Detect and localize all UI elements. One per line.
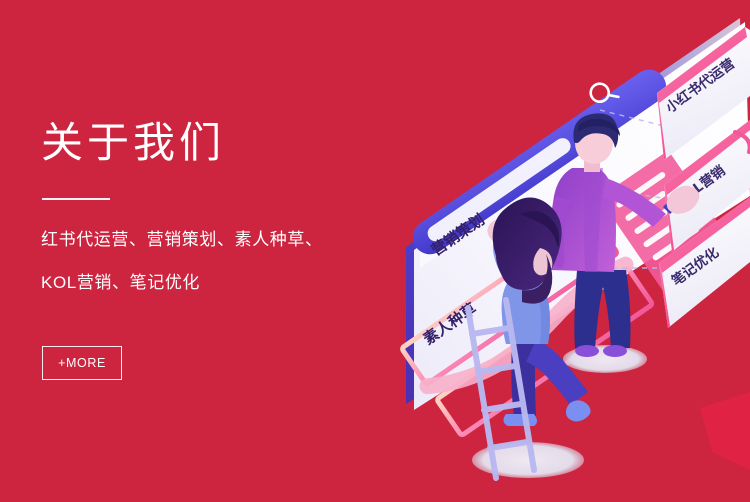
about-us-hero-banner: 营销策划 素人种草 小红书代运营 [0, 0, 750, 502]
hero-text-panel: 关于我们 红书代运营、营销策划、素人种草、 KOL营销、笔记优化 +MORE [0, 0, 400, 502]
description-line-1: 红书代运营、营销策划、素人种草、 [41, 225, 323, 250]
page-title: 关于我们 [41, 122, 225, 164]
description-line-2: KOL营销、笔记优化 [41, 268, 200, 293]
more-button[interactable]: +MORE [42, 346, 122, 380]
title-divider [42, 198, 110, 200]
